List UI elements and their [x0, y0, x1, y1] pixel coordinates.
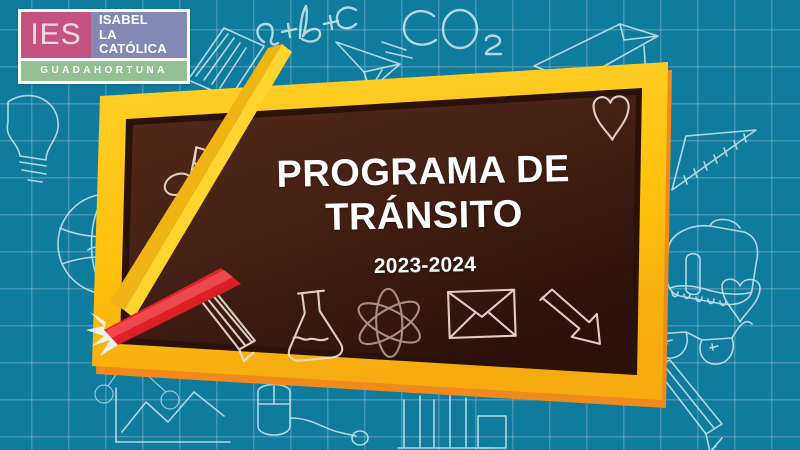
logo-acronym-block: IES [21, 12, 91, 58]
school-logo: IES ISABEL LA CATÓLICA GUADAHORTUNA [18, 9, 190, 84]
logo-name-line-2: LA CATÓLICA [99, 28, 187, 58]
logo-top-row: IES ISABEL LA CATÓLICA [21, 12, 187, 58]
logo-town-block: GUADAHORTUNA [21, 61, 187, 81]
logo-name-block: ISABEL LA CATÓLICA [91, 12, 187, 58]
presentation-slide: PROGRAMA DE TRÁNSITO 2023-2024 IES ISABE… [0, 0, 800, 450]
logo-name-line-1: ISABEL [99, 13, 187, 28]
board-title: PROGRAMA DE TRÁNSITO [231, 146, 617, 242]
logo-town-label: GUADAHORTUNA [40, 66, 167, 76]
board-title-line-2: TRÁNSITO [325, 193, 523, 239]
board-title-line-1: PROGRAMA DE [276, 148, 570, 196]
board-text-block: PROGRAMA DE TRÁNSITO 2023-2024 [231, 146, 617, 282]
logo-acronym: IES [30, 20, 81, 50]
